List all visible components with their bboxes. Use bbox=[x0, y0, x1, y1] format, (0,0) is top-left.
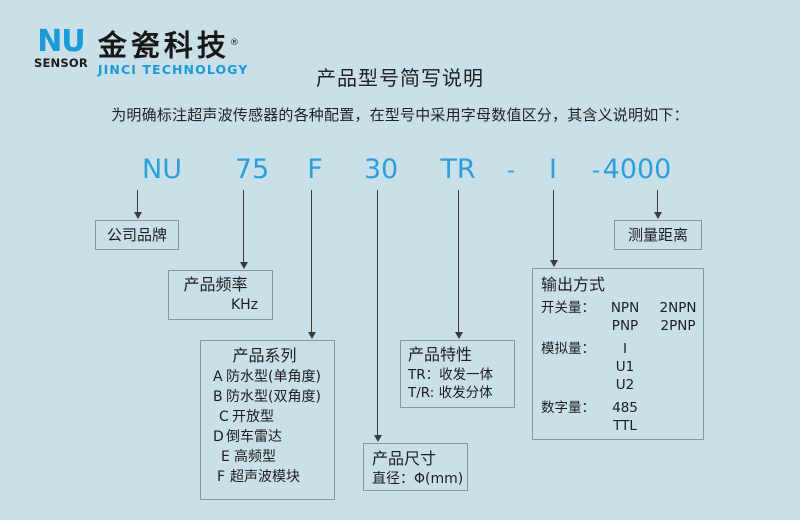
series-label-a: 防水型(单角度) bbox=[226, 369, 321, 385]
code-segment-f: F bbox=[307, 153, 323, 187]
box-product-size: 产品尺寸 直径：Φ(mm) bbox=[363, 443, 468, 491]
output-row-u2: U2 bbox=[599, 376, 703, 394]
output-row-pnp: PNP 2PNP bbox=[599, 317, 705, 335]
connector-line-size bbox=[377, 190, 378, 437]
box-product-frequency-title: 产品频率 bbox=[169, 274, 262, 296]
connector-arrow-distance bbox=[654, 212, 662, 219]
output-row-npn: NPN 2NPN bbox=[599, 299, 705, 317]
model-code-row: NU 75 F 30 TR - I - 4000 bbox=[0, 153, 800, 191]
code-segment-tr: TR bbox=[440, 153, 475, 187]
series-item-f: F超声波模块 bbox=[201, 467, 334, 487]
series-key-e: E bbox=[221, 447, 234, 467]
diagram-canvas: NU SENSOR 金瓷科技® JINCI TECHNOLOGY 产品型号简写说… bbox=[0, 0, 800, 520]
connector-arrow-size bbox=[374, 435, 382, 442]
output-value-2pnp: 2PNP bbox=[651, 317, 705, 335]
output-value-u2: U2 bbox=[599, 376, 651, 394]
characteristics-line-t-r: T/R: 收发分体 bbox=[408, 384, 514, 402]
output-value-i: I bbox=[599, 340, 651, 358]
box-output-mode-title: 输出方式 bbox=[541, 274, 703, 296]
code-separator-2: - bbox=[592, 153, 601, 187]
output-group-switch-label: 开关量： bbox=[541, 299, 599, 335]
box-measurement-distance-title: 测量距离 bbox=[628, 224, 688, 246]
output-group-analog: 模拟量： I U1 U2 bbox=[541, 340, 703, 394]
connector-arrow-brand bbox=[134, 212, 142, 219]
output-row-485: 485 bbox=[599, 399, 703, 417]
series-label-d: 倒车雷达 bbox=[226, 429, 282, 445]
box-product-series-title: 产品系列 bbox=[201, 345, 334, 367]
series-item-a: A防水型(单角度) bbox=[201, 367, 334, 387]
page-subtitle: 为明确标注超声波传感器的各种配置，在型号中采用字母数值区分，其含义说明如下： bbox=[0, 104, 800, 125]
output-row-u1: U1 bbox=[599, 358, 703, 376]
series-item-e: E高频型 bbox=[201, 447, 334, 467]
code-separator-1: - bbox=[507, 153, 516, 187]
logo-nu-text: NU bbox=[34, 28, 88, 56]
connector-line-series bbox=[311, 190, 312, 334]
output-value-u1: U1 bbox=[599, 358, 651, 376]
series-item-b: B防水型(双角度) bbox=[201, 387, 334, 407]
series-label-f: 超声波模块 bbox=[230, 469, 300, 485]
connector-line-brand bbox=[137, 190, 138, 214]
box-company-brand: 公司品牌 bbox=[95, 220, 179, 250]
code-segment-i: I bbox=[549, 153, 557, 187]
connector-arrow-series bbox=[308, 332, 316, 339]
connector-line-output bbox=[553, 190, 554, 262]
registered-mark-icon: ® bbox=[230, 38, 239, 48]
connector-line-characteristics bbox=[458, 190, 459, 334]
output-value-pnp: PNP bbox=[599, 317, 651, 335]
output-group-digital: 数字量： 485 TTL bbox=[541, 399, 703, 435]
characteristics-line-tr: TR：收发一体 bbox=[408, 366, 514, 384]
code-segment-75: 75 bbox=[235, 153, 269, 187]
series-label-c: 开放型 bbox=[232, 409, 274, 425]
output-row-ttl: TTL bbox=[599, 417, 703, 435]
page-title: 产品型号简写说明 bbox=[0, 62, 800, 91]
box-product-characteristics-title: 产品特性 bbox=[408, 344, 514, 366]
series-item-c: C开放型 bbox=[201, 407, 334, 427]
code-segment-4000: 4000 bbox=[603, 153, 672, 187]
output-value-485: 485 bbox=[599, 399, 651, 417]
logo-company-cn: 金瓷科技® bbox=[98, 28, 249, 61]
series-key-d: D bbox=[213, 427, 226, 447]
connector-arrow-output bbox=[550, 260, 558, 267]
logo-company-cn-text: 金瓷科技 bbox=[98, 29, 230, 63]
output-group-analog-values: I U1 U2 bbox=[599, 340, 703, 394]
output-group-digital-values: 485 TTL bbox=[599, 399, 703, 435]
code-segment-30: 30 bbox=[364, 153, 398, 187]
box-company-brand-title: 公司品牌 bbox=[107, 224, 167, 246]
output-group-digital-label: 数字量： bbox=[541, 399, 599, 435]
connector-line-frequency bbox=[243, 190, 244, 264]
output-value-npn: NPN bbox=[599, 299, 651, 317]
series-key-f: F bbox=[217, 467, 230, 487]
output-group-switch-values: NPN 2NPN PNP 2PNP bbox=[599, 299, 705, 335]
box-product-size-title: 产品尺寸 bbox=[372, 448, 467, 470]
series-label-e: 高频型 bbox=[234, 449, 276, 465]
output-group-analog-label: 模拟量： bbox=[541, 340, 599, 394]
connector-arrow-frequency bbox=[240, 262, 248, 269]
box-product-frequency: 产品频率 KHz bbox=[168, 270, 273, 320]
output-group-switch: 开关量： NPN 2NPN PNP 2PNP bbox=[541, 299, 703, 335]
box-product-frequency-unit: KHz bbox=[169, 296, 262, 315]
connector-arrow-characteristics bbox=[455, 332, 463, 339]
series-label-b: 防水型(双角度) bbox=[226, 389, 321, 405]
output-row-i: I bbox=[599, 340, 703, 358]
box-output-mode: 输出方式 开关量： NPN 2NPN PNP 2PNP 模拟量： I U1 U2 bbox=[532, 268, 704, 440]
series-key-a: A bbox=[213, 367, 226, 387]
code-segment-nu: NU bbox=[142, 153, 182, 187]
box-product-characteristics: 产品特性 TR：收发一体 T/R: 收发分体 bbox=[400, 340, 515, 408]
series-key-c: C bbox=[219, 407, 232, 427]
box-product-size-diameter: 直径：Φ(mm) bbox=[372, 470, 467, 489]
box-product-series: 产品系列 A防水型(单角度) B防水型(双角度) C开放型 D倒车雷达 E高频型… bbox=[200, 340, 335, 500]
output-value-ttl: TTL bbox=[599, 417, 651, 435]
output-value-2npn: 2NPN bbox=[651, 299, 705, 317]
box-measurement-distance: 测量距离 bbox=[614, 220, 702, 250]
series-key-b: B bbox=[213, 387, 226, 407]
connector-line-distance bbox=[657, 190, 658, 214]
series-item-d: D倒车雷达 bbox=[201, 427, 334, 447]
